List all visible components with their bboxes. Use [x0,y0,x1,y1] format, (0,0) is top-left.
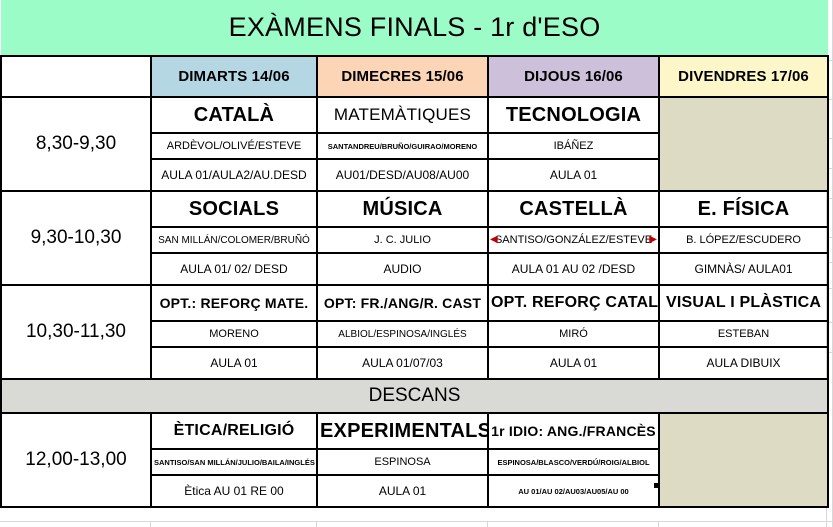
grid-line [316,521,317,527]
teacher-cell: SANTANDREU/BRUÑO/GUIRAO/MORENO [317,133,488,159]
subject-cell: OPT: FR./ANG/R. CAST [317,285,488,321]
teacher-cell: ARDÈVOL/OLIVÉ/ESTEVE [151,133,317,159]
room-cell: GIMNÀS/ AULA01 [659,253,828,285]
subject-cell: E. FÍSICA [659,191,828,227]
grid-line [150,521,151,527]
empty-cell [659,413,828,507]
schedule-row: 10,30-11,30 OPT.: REFORÇ MATE. OPT: FR./… [1,285,828,321]
teacher-cell: IBÁÑEZ [488,133,659,159]
day-header-row: DIMARTS 14/06 DIMECRES 15/06 DIJOUS 16/0… [1,56,828,97]
empty-cell [659,97,828,191]
time-slot-label: 10,30-11,30 [1,285,151,379]
spreadsheet-canvas: EXÀMENS FINALS - 1r d'ESO DIMARTS 14/06 … [0,0,833,527]
time-slot-label: 12,00-13,00 [1,413,151,507]
room-cell: AULA 01 [151,347,317,379]
time-slot-label: 9,30-10,30 [1,191,151,285]
day-header-wednesday: DIMECRES 15/06 [317,56,488,97]
schedule-row: 9,30-10,30 SOCIALS MÚSICA CASTELLÀ E. FÍ… [1,191,828,227]
subject-cell: EXPERIMENTALS [317,413,488,449]
break-row: DESCANS [1,379,828,413]
grid-line [487,521,488,527]
room-cell: AU01/DESD/AU08/AU00 [317,159,488,191]
subject-cell: MATEMÀTIQUES [317,97,488,133]
teacher-cell: MORENO [151,321,317,347]
teacher-cell: SANTISO/SAN MILLÁN/JULIO/BAILA/INGLÉS [151,449,317,475]
grid-line [0,521,833,522]
room-cell: AULA 01/07/03 [317,347,488,379]
header-corner-cell [1,56,151,97]
teacher-cell: ESPINOSA/BLASCO/VERDÚ/ROIG/ALBIOL [488,449,659,475]
teacher-cell: ESPINOSA [317,449,488,475]
room-cell: AULA 01 AU 02 /DESD [488,253,659,285]
schedule-row: 8,30-9,30 CATALÀ MATEMÀTIQUES TECNOLOGIA [1,97,828,133]
room-cell: AULA 01/ 02/ DESD [151,253,317,285]
room-cell: AUDIO [317,253,488,285]
subject-cell: SOCIALS [151,191,317,227]
room-cell: AULA 01 [488,159,659,191]
subject-cell: OPT. REFORÇ CATALÀ [488,285,659,321]
room-cell: AULA 01/AULA2/AU.DESD [151,159,317,191]
grid-line [658,521,659,527]
schedule-row: 12,00-13,00 ÈTICA/RELIGIÓ EXPERIMENTALS … [1,413,828,449]
title-row: EXÀMENS FINALS - 1r d'ESO [1,0,828,56]
room-cell: AULA 01 [317,475,488,507]
page-title: EXÀMENS FINALS - 1r d'ESO [1,0,828,56]
subject-cell: OPT.: REFORÇ MATE. [151,285,317,321]
teacher-cell: J. C. JULIO [317,227,488,253]
teacher-cell-text: SANTISO/GONZÁLEZ/ESTEVE [495,234,652,246]
time-slot-label: 8,30-9,30 [1,97,151,191]
break-label: DESCANS [1,379,828,413]
teacher-cell-overflow: ◀ SANTISO/GONZÁLEZ/ESTEVE ▶ [488,227,659,253]
subject-cell: CASTELLÀ [488,191,659,227]
room-cell: AULA 01 [488,347,659,379]
room-cell: AULA DIBUIX [659,347,828,379]
room-cell: AU 01/AU 02/AU03/AU05/AU 00 [488,475,659,507]
subject-cell: CATALÀ [151,97,317,133]
teacher-cell: MIRÓ [488,321,659,347]
room-cell: Ètica AU 01 RE 00 [151,475,317,507]
overflow-arrow-left-icon: ◀ [490,235,498,245]
cell-selection-handle[interactable] [654,483,659,488]
day-header-tuesday: DIMARTS 14/06 [151,56,317,97]
subject-cell: 1r IDIO: ANG./FRANCÈS [488,413,659,449]
teacher-cell: ALBIOL/ESPINOSA/INGLÉS [317,321,488,347]
teacher-cell: SAN MILLÁN/COLOMER/BRUÑÓ [151,227,317,253]
day-header-friday: DIVENDRES 17/06 [659,56,828,97]
subject-cell: VISUAL I PLÀSTICA [659,285,828,321]
day-header-thursday: DIJOUS 16/06 [488,56,659,97]
exam-schedule-table: EXÀMENS FINALS - 1r d'ESO DIMARTS 14/06 … [0,0,829,508]
teacher-cell: B. LÓPEZ/ESCUDERO [659,227,828,253]
subject-cell: MÚSICA [317,191,488,227]
overflow-arrow-right-icon: ▶ [649,235,657,245]
teacher-cell: ESTEBAN [659,321,828,347]
subject-cell: ÈTICA/RELIGIÓ [151,413,317,449]
subject-cell: TECNOLOGIA [488,97,659,133]
